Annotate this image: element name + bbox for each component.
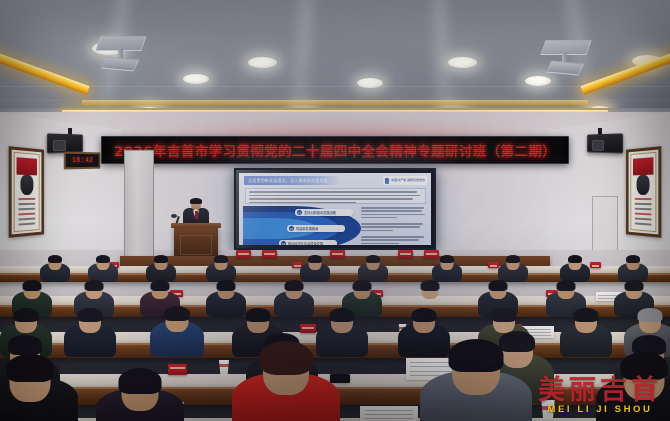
- arc-number-3: 03: [281, 241, 286, 245]
- attendee: [40, 256, 70, 282]
- slide-logo: 中国共产党 湖南省委党校: [383, 176, 427, 185]
- audience-area: [0, 252, 670, 421]
- slide-logo-mark: [385, 178, 389, 184]
- clock-value: 16:42: [72, 156, 94, 164]
- slide-paragraph: [245, 188, 426, 204]
- photo-scene: 16:42 2026年吉首市学习贯彻党的二十届四中全会精神专题研讨班（第二期） …: [0, 0, 670, 421]
- attendee: [300, 256, 330, 282]
- paper-cup: [218, 360, 230, 375]
- attendee: [596, 355, 670, 421]
- attendee-red-coat: [232, 345, 340, 421]
- led-banner-text: 2026年吉首市学习贯彻党的二十届四中全会精神专题研讨班（第二期）: [114, 140, 556, 160]
- attendee: [150, 307, 204, 357]
- attendee: [358, 256, 388, 282]
- attendee: [498, 256, 528, 282]
- arc-label-2: 02 构建新发展格局: [287, 225, 345, 232]
- arc-text-3: 推动经济社会高质量发展: [288, 241, 323, 245]
- slide-text-block-1: [361, 207, 427, 220]
- cove-light-inner-front: [82, 100, 588, 105]
- paper-cup: [540, 400, 556, 420]
- attendee: [560, 309, 612, 357]
- slide-text-block-2: [361, 223, 427, 233]
- slide-arc-diagram: 01 坚持创新驱动发展战略 02 构建新发展格局 03 推动经济社会高质量发展: [243, 206, 363, 245]
- arc-number-1: 01: [297, 210, 302, 215]
- slide-title: 全面贯彻新发展理念，深入推进高质量发展: [248, 178, 328, 184]
- slide-text-block-3: [361, 236, 427, 245]
- arc-text-1: 坚持创新驱动发展战略: [304, 210, 336, 215]
- attendee: [96, 371, 184, 421]
- attendee: [560, 256, 590, 282]
- attendee: [618, 256, 648, 282]
- attendee: [146, 256, 176, 282]
- attendee: [88, 256, 118, 282]
- wall-poster-right: [626, 146, 661, 238]
- attendee: [0, 357, 78, 421]
- ceiling-downlight: [357, 78, 383, 88]
- arc-label-1: 01 坚持创新驱动发展战略: [295, 209, 353, 216]
- wall-poster-left: [9, 146, 44, 238]
- ceiling-downlight: [248, 57, 277, 68]
- arc-text-2: 构建新发展格局: [296, 226, 318, 231]
- arc-number-2: 02: [289, 226, 294, 231]
- projection-screen: 全面贯彻新发展理念，深入推进高质量发展 中国共产党 湖南省委党校 01 坚持创新…: [234, 168, 436, 250]
- led-banner: 2026年吉首市学习贯彻党的二十届四中全会精神专题研讨班（第二期）: [101, 136, 569, 164]
- name-placard: [590, 262, 601, 268]
- slide-logo-text: 中国共产党 湖南省委党校: [391, 179, 425, 182]
- side-door: [124, 150, 154, 258]
- name-placard: [300, 324, 316, 333]
- arc-label-3: 03 推动经济社会高质量发展: [279, 240, 337, 245]
- wall-panel-right: [592, 196, 618, 258]
- attendee: [432, 256, 462, 282]
- attendee: [206, 256, 236, 282]
- ceiling-downlight: [448, 57, 477, 68]
- ceiling-downlight: [525, 76, 551, 86]
- digital-clock: 16:42: [64, 152, 101, 170]
- ceiling-downlight: [183, 74, 209, 84]
- document: [360, 406, 418, 421]
- slide-content: 全面贯彻新发展理念，深入推进高质量发展 中国共产党 湖南省委党校 01 坚持创新…: [239, 173, 431, 245]
- attendee: [64, 309, 116, 357]
- slide-title-bar: 全面贯彻新发展理念，深入推进高质量发展: [244, 176, 340, 185]
- attendee: [420, 343, 532, 421]
